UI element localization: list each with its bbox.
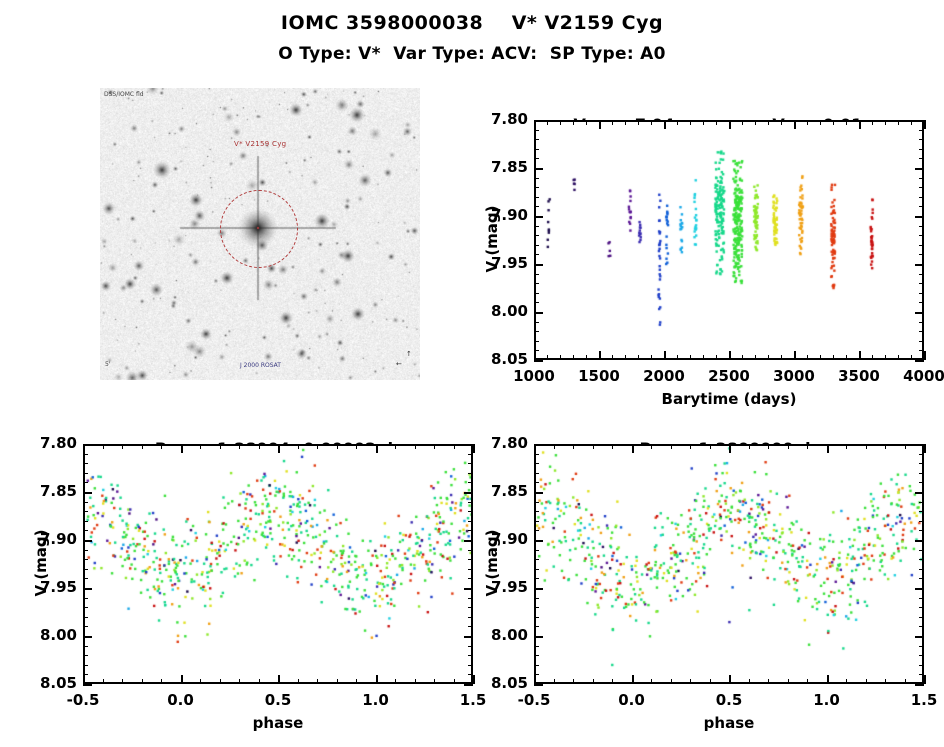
omc-ytickmark-3 bbox=[83, 588, 92, 590]
vsx-xtickmark-4 bbox=[924, 675, 926, 684]
lc-xtick-6: 4000 bbox=[879, 367, 944, 385]
lc-xtickmark-3 bbox=[729, 351, 731, 360]
phase-vsx-points bbox=[536, 446, 922, 682]
vsx-yminor-r bbox=[919, 530, 924, 531]
omc-xtickmark-0 bbox=[83, 675, 85, 684]
omc-yminor bbox=[83, 665, 88, 666]
compass-north-icon: ↑ bbox=[406, 350, 412, 358]
omc-yminor-r bbox=[468, 454, 473, 455]
lc-xminor-t bbox=[898, 120, 899, 125]
lc-yminor-r bbox=[919, 206, 924, 207]
vsx-xminor bbox=[885, 679, 886, 684]
lc-ytickmark-3 bbox=[534, 264, 543, 266]
omc-xminor bbox=[317, 679, 318, 684]
lc-xtickmark-t-4 bbox=[794, 120, 796, 129]
lc-yaxis-label: V (mag) bbox=[483, 169, 501, 309]
vsx-yminor-r bbox=[919, 550, 924, 551]
vsx-yminor bbox=[534, 502, 539, 503]
lc-xminor bbox=[898, 355, 899, 360]
lc-xminor bbox=[872, 355, 873, 360]
phase-omc-panel: POMC = 1.28004±0.00002 days bbox=[83, 444, 473, 684]
lc-xtickmark-t-6 bbox=[924, 120, 926, 129]
lc-xminor-t bbox=[586, 120, 587, 125]
lc-xtickmark-t-1 bbox=[599, 120, 601, 129]
omc-xminor-t bbox=[259, 444, 260, 449]
lc-yminor bbox=[534, 197, 539, 198]
lc-yminor-r bbox=[919, 254, 924, 255]
vsx-ytickmark-2 bbox=[534, 540, 543, 542]
lc-yminor-r bbox=[919, 274, 924, 275]
lc-xminor bbox=[716, 355, 717, 360]
lc-yminor-r bbox=[919, 235, 924, 236]
vsx-yminor bbox=[534, 646, 539, 647]
vsx-yminor-r bbox=[919, 617, 924, 618]
vsx-yminor-r bbox=[919, 607, 924, 608]
lc-xminor-t bbox=[846, 120, 847, 125]
lc-yminor bbox=[534, 187, 539, 188]
finder-scale-label: 5' bbox=[105, 361, 110, 368]
vsx-xtickmark-2 bbox=[729, 675, 731, 684]
omc-xtickmark-3 bbox=[376, 675, 378, 684]
omc-yminor bbox=[83, 482, 88, 483]
lc-xtickmark-t-2 bbox=[664, 120, 666, 129]
lc-yminor-r bbox=[919, 197, 924, 198]
lc-xminor bbox=[638, 355, 639, 360]
phase-omc-points bbox=[85, 446, 471, 682]
lc-yminor-r bbox=[919, 178, 924, 179]
lc-ytick-0: 7.80 bbox=[470, 110, 528, 128]
vsx-xminor-t bbox=[593, 444, 594, 449]
omc-xtickmark-t-3 bbox=[376, 444, 378, 453]
lc-xminor bbox=[846, 355, 847, 360]
lc-xminor-t bbox=[573, 120, 574, 125]
page-title: IOMC 3598000038 V* V2159 Cyg bbox=[0, 12, 944, 34]
vsx-ytickmark-r-2 bbox=[915, 540, 924, 542]
vsx-xtickmark-0 bbox=[534, 675, 536, 684]
lc-xminor bbox=[651, 355, 652, 360]
vsx-xminor-t bbox=[554, 444, 555, 449]
omc-xtickmark-2 bbox=[278, 675, 280, 684]
lc-xminor bbox=[586, 355, 587, 360]
lc-xminor-t bbox=[807, 120, 808, 125]
lc-xtickmark-1 bbox=[599, 351, 601, 360]
omc-yminor bbox=[83, 598, 88, 599]
omc-xminor bbox=[454, 679, 455, 684]
vsx-yminor-r bbox=[919, 454, 924, 455]
target-aperture-circle bbox=[220, 190, 298, 268]
lc-xminor-t bbox=[547, 120, 548, 125]
lc-yminor-r bbox=[919, 149, 924, 150]
omc-yminor-r bbox=[468, 463, 473, 464]
omc-ytickmark-4 bbox=[83, 636, 92, 638]
lc-yminor bbox=[534, 245, 539, 246]
vsx-yminor bbox=[534, 665, 539, 666]
omc-ytickmark-5 bbox=[83, 684, 92, 686]
lc-xtickmark-2 bbox=[664, 351, 666, 360]
lc-yminor bbox=[534, 235, 539, 236]
lc-xminor bbox=[612, 355, 613, 360]
lc-xminor bbox=[820, 355, 821, 360]
omc-xtick-2: 0.5 bbox=[233, 691, 323, 709]
vsx-yminor bbox=[534, 511, 539, 512]
omc-xminor-t bbox=[161, 444, 162, 449]
vsx-yminor-r bbox=[919, 559, 924, 560]
vsx-yminor bbox=[534, 617, 539, 618]
omc-yminor bbox=[83, 617, 88, 618]
omc-xminor bbox=[298, 679, 299, 684]
lc-yminor bbox=[534, 206, 539, 207]
lc-ytickmark-5 bbox=[534, 360, 543, 362]
phase-vsx-panel: PVSX = 1.2800000 days bbox=[534, 444, 924, 684]
lc-xminor-t bbox=[677, 120, 678, 125]
lc-yminor bbox=[534, 226, 539, 227]
omc-yminor bbox=[83, 607, 88, 608]
vsx-xminor bbox=[593, 679, 594, 684]
vsx-yminor bbox=[534, 559, 539, 560]
lc-xminor bbox=[625, 355, 626, 360]
omc-xminor bbox=[200, 679, 201, 684]
omc-xminor-t bbox=[200, 444, 201, 449]
vsx-yminor-r bbox=[919, 655, 924, 656]
omc-yminor-r bbox=[468, 617, 473, 618]
lc-ytickmark-r-4 bbox=[915, 312, 924, 314]
lc-yminor bbox=[534, 322, 539, 323]
vsx-ytickmark-r-5 bbox=[915, 684, 924, 686]
omc-xtick-0: -0.5 bbox=[38, 691, 128, 709]
vsx-yminor bbox=[534, 454, 539, 455]
vsx-xminor bbox=[905, 679, 906, 684]
vsx-yminor bbox=[534, 473, 539, 474]
vsx-xtick-3: 1.0 bbox=[782, 691, 872, 709]
vsx-xminor-t bbox=[651, 444, 652, 449]
vsx-xtickmark-t-4 bbox=[924, 444, 926, 453]
vsx-xminor-t bbox=[846, 444, 847, 449]
lc-yminor bbox=[534, 178, 539, 179]
omc-yminor bbox=[83, 550, 88, 551]
vsx-xminor bbox=[651, 679, 652, 684]
finder-corner-label: DSS/IOMC fld bbox=[104, 91, 144, 98]
vsx-xminor-t bbox=[749, 444, 750, 449]
vsx-xtickmark-t-2 bbox=[729, 444, 731, 453]
omc-xtickmark-t-1 bbox=[181, 444, 183, 453]
vsx-ytickmark-3 bbox=[534, 588, 543, 590]
omc-xtickmark-t-2 bbox=[278, 444, 280, 453]
lc-yminor bbox=[534, 302, 539, 303]
omc-xminor-t bbox=[395, 444, 396, 449]
omc-xminor-t bbox=[142, 444, 143, 449]
lc-yminor-r bbox=[919, 331, 924, 332]
vsx-xtickmark-t-3 bbox=[827, 444, 829, 453]
vsx-xminor bbox=[671, 679, 672, 684]
vsx-ytickmark-r-4 bbox=[915, 636, 924, 638]
lc-xminor bbox=[690, 355, 691, 360]
omc-yminor-r bbox=[468, 655, 473, 656]
vsx-xtickmark-t-0 bbox=[534, 444, 536, 453]
omc-xaxis-label: phase bbox=[208, 714, 348, 732]
lc-xminor-t bbox=[560, 120, 561, 125]
lc-xaxis-label: Barytime (days) bbox=[659, 390, 799, 408]
lc-yminor-r bbox=[919, 293, 924, 294]
lc-xminor bbox=[677, 355, 678, 360]
omc-xminor-t bbox=[122, 444, 123, 449]
lc-ytickmark-r-2 bbox=[915, 216, 924, 218]
lc-xminor-t bbox=[820, 120, 821, 125]
omc-yminor-r bbox=[468, 607, 473, 608]
vsx-yminor-r bbox=[919, 626, 924, 627]
vsx-xminor-t bbox=[768, 444, 769, 449]
lc-xminor-t bbox=[638, 120, 639, 125]
vsx-xminor-t bbox=[671, 444, 672, 449]
compass-east-icon: ← bbox=[396, 360, 402, 368]
omc-xminor-t bbox=[317, 444, 318, 449]
vsx-xminor bbox=[788, 679, 789, 684]
omc-xminor-t bbox=[103, 444, 104, 449]
lc-xminor bbox=[781, 355, 782, 360]
lc-yminor-r bbox=[919, 302, 924, 303]
omc-xminor bbox=[161, 679, 162, 684]
lc-xminor-t bbox=[768, 120, 769, 125]
vsx-xtick-2: 0.5 bbox=[684, 691, 774, 709]
vsx-xminor-t bbox=[866, 444, 867, 449]
omc-yminor bbox=[83, 578, 88, 579]
vsx-xtickmark-t-1 bbox=[632, 444, 634, 453]
lc-yminor-r bbox=[919, 283, 924, 284]
omc-yminor bbox=[83, 655, 88, 656]
lc-xminor-t bbox=[781, 120, 782, 125]
finder-star-label: V* V2159 Cyg bbox=[234, 140, 286, 148]
lc-xminor bbox=[755, 355, 756, 360]
vsx-xminor bbox=[749, 679, 750, 684]
omc-yminor bbox=[83, 646, 88, 647]
lc-yminor-r bbox=[919, 226, 924, 227]
lc-xminor-t bbox=[833, 120, 834, 125]
vsx-ytickmark-r-3 bbox=[915, 588, 924, 590]
omc-xminor bbox=[434, 679, 435, 684]
vsx-ytickmark-r-1 bbox=[915, 492, 924, 494]
lc-ytickmark-r-0 bbox=[915, 120, 924, 122]
dss-finder-chart: DSS/IOMC fld V* V2159 Cyg J 2000 ROSAT 5… bbox=[100, 88, 420, 380]
vsx-xminor bbox=[690, 679, 691, 684]
lc-xminor-t bbox=[690, 120, 691, 125]
lc-xtickmark-0 bbox=[534, 351, 536, 360]
lc-yminor bbox=[534, 130, 539, 131]
lc-yminor-r bbox=[919, 130, 924, 131]
lc-xtickmark-t-0 bbox=[534, 120, 536, 129]
vsx-ytickmark-r-0 bbox=[915, 444, 924, 446]
vsx-ytickmark-4 bbox=[534, 636, 543, 638]
lc-yminor bbox=[534, 331, 539, 332]
omc-xtick-3: 1.0 bbox=[331, 691, 421, 709]
lc-yminor-r bbox=[919, 158, 924, 159]
lc-xminor bbox=[833, 355, 834, 360]
vsx-xminor-t bbox=[885, 444, 886, 449]
vsx-xtick-1: 0.0 bbox=[587, 691, 677, 709]
lc-yminor-r bbox=[919, 139, 924, 140]
vsx-xminor-t bbox=[788, 444, 789, 449]
vsx-xminor-t bbox=[690, 444, 691, 449]
omc-yminor bbox=[83, 521, 88, 522]
omc-xtick-1: 0.0 bbox=[136, 691, 226, 709]
lc-xminor bbox=[807, 355, 808, 360]
lc-xminor bbox=[885, 355, 886, 360]
lc-yminor bbox=[534, 293, 539, 294]
vsx-xminor bbox=[807, 679, 808, 684]
omc-xminor bbox=[103, 679, 104, 684]
vsx-xminor bbox=[768, 679, 769, 684]
vsx-xminor bbox=[573, 679, 574, 684]
omc-xtickmark-t-0 bbox=[83, 444, 85, 453]
omc-xminor-t bbox=[356, 444, 357, 449]
lc-yminor bbox=[534, 283, 539, 284]
omc-xminor-t bbox=[220, 444, 221, 449]
lc-ytick-5: 8.05 bbox=[470, 350, 528, 368]
vsx-yminor bbox=[534, 598, 539, 599]
lc-ytickmark-1 bbox=[534, 168, 543, 170]
omc-yminor bbox=[83, 473, 88, 474]
lc-yminor-r bbox=[919, 322, 924, 323]
vsx-xminor-t bbox=[710, 444, 711, 449]
omc-ytick-5: 8.05 bbox=[19, 674, 77, 692]
lc-xminor bbox=[742, 355, 743, 360]
vsx-xminor bbox=[554, 679, 555, 684]
vsx-xtick-4: 1.5 bbox=[879, 691, 944, 709]
omc-yminor bbox=[83, 626, 88, 627]
lc-xtickmark-4 bbox=[794, 351, 796, 360]
omc-xminor-t bbox=[415, 444, 416, 449]
omc-ytickmark-2 bbox=[83, 540, 92, 542]
omc-yminor-r bbox=[468, 473, 473, 474]
vsx-yaxis-label: V (mag) bbox=[483, 493, 501, 633]
vsx-ytick-5: 8.05 bbox=[470, 674, 528, 692]
lc-xtickmark-t-5 bbox=[859, 120, 861, 129]
omc-xminor bbox=[415, 679, 416, 684]
lc-ytickmark-4 bbox=[534, 312, 543, 314]
omc-yminor-r bbox=[468, 665, 473, 666]
omc-yminor bbox=[83, 559, 88, 560]
lc-xminor-t bbox=[625, 120, 626, 125]
lc-xminor-t bbox=[755, 120, 756, 125]
finder-bottom-label: J 2000 ROSAT bbox=[240, 362, 281, 369]
omc-yminor-r bbox=[468, 521, 473, 522]
omc-xtickmark-1 bbox=[181, 675, 183, 684]
vsx-xaxis-label: phase bbox=[659, 714, 799, 732]
vsx-yminor bbox=[534, 578, 539, 579]
vsx-yminor-r bbox=[919, 521, 924, 522]
lc-xminor bbox=[703, 355, 704, 360]
lc-yminor bbox=[534, 149, 539, 150]
omc-yminor bbox=[83, 463, 88, 464]
vsx-yminor bbox=[534, 607, 539, 608]
vsx-yminor bbox=[534, 569, 539, 570]
lightcurve-panel: Vmed = 7.94 mag <err_V> = 0.01 mag bbox=[534, 120, 924, 360]
vsx-xminor bbox=[866, 679, 867, 684]
omc-xminor bbox=[395, 679, 396, 684]
omc-ytickmark-1 bbox=[83, 492, 92, 494]
omc-yaxis-label: V (mag) bbox=[32, 493, 50, 633]
omc-yminor bbox=[83, 569, 88, 570]
omc-xminor bbox=[356, 679, 357, 684]
omc-yminor bbox=[83, 454, 88, 455]
vsx-yminor-r bbox=[919, 463, 924, 464]
lc-xminor bbox=[768, 355, 769, 360]
lc-xtickmark-6 bbox=[924, 351, 926, 360]
lc-yminor bbox=[534, 254, 539, 255]
omc-yminor-r bbox=[468, 559, 473, 560]
vsx-xminor bbox=[846, 679, 847, 684]
lc-ytickmark-2 bbox=[534, 216, 543, 218]
vsx-xminor-t bbox=[807, 444, 808, 449]
lc-xminor-t bbox=[911, 120, 912, 125]
vsx-xminor bbox=[612, 679, 613, 684]
lc-xtickmark-5 bbox=[859, 351, 861, 360]
omc-xminor-t bbox=[454, 444, 455, 449]
omc-xminor-t bbox=[434, 444, 435, 449]
vsx-yminor-r bbox=[919, 502, 924, 503]
omc-yminor-r bbox=[468, 569, 473, 570]
vsx-yminor-r bbox=[919, 569, 924, 570]
lc-xminor-t bbox=[872, 120, 873, 125]
lc-yminor bbox=[534, 274, 539, 275]
vsx-ytick-0: 7.80 bbox=[470, 434, 528, 452]
vsx-xminor bbox=[710, 679, 711, 684]
vsx-yminor-r bbox=[919, 482, 924, 483]
vsx-yminor-r bbox=[919, 578, 924, 579]
vsx-ytickmark-5 bbox=[534, 684, 543, 686]
vsx-xtickmark-3 bbox=[827, 675, 829, 684]
lc-yminor bbox=[534, 158, 539, 159]
lc-xminor-t bbox=[612, 120, 613, 125]
omc-yminor bbox=[83, 530, 88, 531]
vsx-yminor bbox=[534, 482, 539, 483]
vsx-yminor bbox=[534, 530, 539, 531]
omc-xminor bbox=[122, 679, 123, 684]
vsx-yminor bbox=[534, 655, 539, 656]
lc-ytickmark-r-3 bbox=[915, 264, 924, 266]
vsx-yminor bbox=[534, 626, 539, 627]
vsx-ytickmark-1 bbox=[534, 492, 543, 494]
omc-xminor bbox=[239, 679, 240, 684]
omc-yminor-r bbox=[468, 511, 473, 512]
lc-xminor bbox=[573, 355, 574, 360]
figure-header: IOMC 3598000038 V* V2159 Cyg O Type: V* … bbox=[0, 0, 944, 64]
vsx-yminor bbox=[534, 550, 539, 551]
lc-xminor-t bbox=[885, 120, 886, 125]
lc-yminor bbox=[534, 139, 539, 140]
lc-xminor bbox=[911, 355, 912, 360]
lc-yminor-r bbox=[919, 341, 924, 342]
lc-ytickmark-r-5 bbox=[915, 360, 924, 362]
vsx-yminor-r bbox=[919, 646, 924, 647]
omc-xminor bbox=[142, 679, 143, 684]
lc-yminor-r bbox=[919, 187, 924, 188]
omc-yminor-r bbox=[468, 502, 473, 503]
vsx-xtickmark-1 bbox=[632, 675, 634, 684]
lc-yminor-r bbox=[919, 245, 924, 246]
omc-xminor-t bbox=[337, 444, 338, 449]
vsx-yminor-r bbox=[919, 473, 924, 474]
omc-xminor bbox=[337, 679, 338, 684]
vsx-xminor-t bbox=[612, 444, 613, 449]
omc-yminor bbox=[83, 502, 88, 503]
vsx-yminor-r bbox=[919, 665, 924, 666]
lc-xminor-t bbox=[716, 120, 717, 125]
vsx-yminor bbox=[534, 463, 539, 464]
omc-xminor-t bbox=[298, 444, 299, 449]
lc-xtickmark-t-3 bbox=[729, 120, 731, 129]
object-type-line: O Type: V* Var Type: ACV: SP Type: A0 bbox=[0, 44, 944, 64]
lc-xminor-t bbox=[742, 120, 743, 125]
lc-xminor-t bbox=[651, 120, 652, 125]
